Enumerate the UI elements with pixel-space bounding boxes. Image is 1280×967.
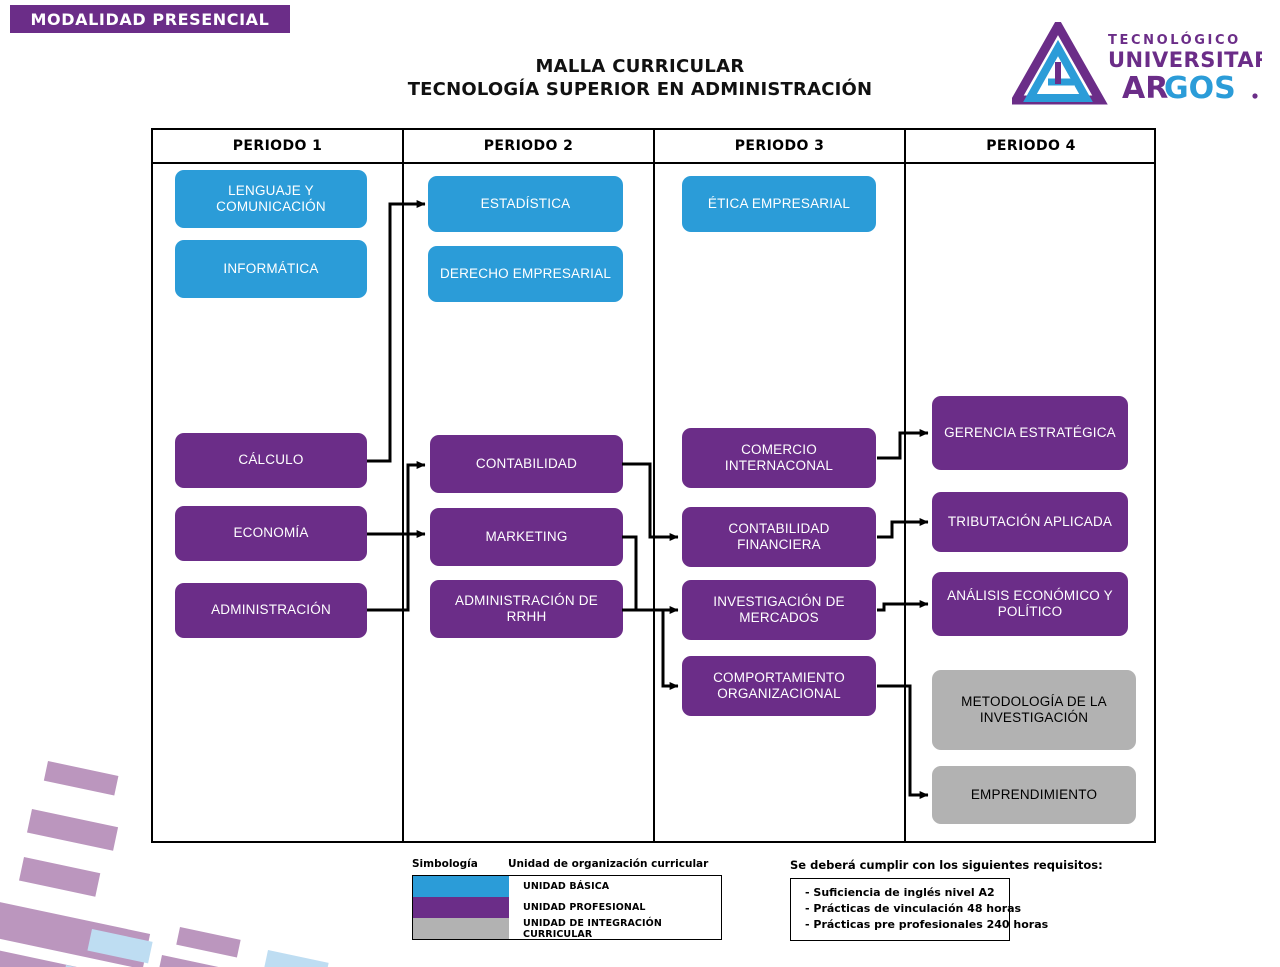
course-box-economia[interactable]: ECONOMÍA <box>175 506 367 561</box>
course-box-investigacion-de-mercados[interactable]: INVESTIGACIÓN DE MERCADOS <box>682 580 876 640</box>
legend-headers: Simbología Unidad de organización curric… <box>412 858 722 870</box>
course-box-emprendimiento[interactable]: EMPRENDIMIENTO <box>932 766 1136 824</box>
argos-logo: TECNOLÓGICO UNIVERSITARIO AR GOS <box>1012 22 1262 108</box>
course-box-metodologia-de-la-investigacion[interactable]: METODOLOGÍA DE LA INVESTIGACIÓN <box>932 670 1136 750</box>
course-box-administracion-de-rrhh[interactable]: ADMINISTRACIÓN DE RRHH <box>430 580 623 638</box>
course-box-lenguaje-y-comunicacion[interactable]: LENGUAJE Y COMUNICACIÓN <box>175 170 367 228</box>
legend-swatch-unidad-basica <box>413 876 509 897</box>
requirements-box: - Suficiencia de inglés nivel A2 - Práct… <box>790 878 1010 941</box>
modality-banner: MODALIDAD PRESENCIAL <box>10 5 290 33</box>
legend-swatch-column <box>413 876 509 939</box>
legend-swatch-unidad-integracion-curricular <box>413 918 509 939</box>
logo-line-argos-dark: AR <box>1122 71 1168 106</box>
column-header-periodo-2: PERIODO 2 <box>404 130 653 162</box>
course-box-analisis-economico-y-politico[interactable]: ANÁLISIS ECONÓMICO Y POLÍTICO <box>932 572 1128 636</box>
legend: Simbología Unidad de organización curric… <box>412 858 722 940</box>
requirements-block: Se deberá cumplir con los siguientes req… <box>790 858 1103 941</box>
requirements-title: Se deberá cumplir con los siguientes req… <box>790 858 1103 872</box>
course-box-tributacion-aplicada[interactable]: TRIBUTACIÓN APLICADA <box>932 492 1128 552</box>
legend-header-unidad: Unidad de organización curricular <box>508 858 708 870</box>
legend-label-unidad-basica: UNIDAD BÁSICA <box>509 876 721 897</box>
requirement-item-ingles: - Suficiencia de inglés nivel A2 <box>805 885 995 901</box>
course-box-calculo[interactable]: CÁLCULO <box>175 433 367 488</box>
logo-line-universitario: UNIVERSITARIO <box>1108 48 1262 72</box>
column-divider-3 <box>904 130 906 841</box>
legend-header-simbologia: Simbología <box>412 858 508 870</box>
course-box-contabilidad[interactable]: CONTABILIDAD <box>430 435 623 493</box>
column-divider-1 <box>402 130 404 841</box>
legend-table: UNIDAD BÁSICA UNIDAD PROFESIONAL UNIDAD … <box>412 875 722 940</box>
course-box-comercio-internacional[interactable]: COMERCIO INTERNACONAL <box>682 428 876 488</box>
course-box-gerencia-estrategica[interactable]: GERENCIA ESTRATÉGICA <box>932 396 1128 470</box>
logo-registered-dot <box>1252 93 1257 98</box>
legend-label-unidad-integracion: UNIDAD DE INTEGRACIÓN CURRICULAR <box>509 918 721 939</box>
course-box-marketing[interactable]: MARKETING <box>430 508 623 566</box>
column-header-periodo-1: PERIODO 1 <box>153 130 402 162</box>
course-box-etica-empresarial[interactable]: ÉTICA EMPRESARIAL <box>682 176 876 232</box>
legend-label-unidad-profesional: UNIDAD PROFESIONAL <box>509 897 721 918</box>
requirement-item-preprofesionales: - Prácticas pre profesionales 240 horas <box>805 917 995 933</box>
course-box-administracion[interactable]: ADMINISTRACIÓN <box>175 583 367 638</box>
column-header-periodo-3: PERIODO 3 <box>655 130 904 162</box>
logo-line-argos-light: GOS <box>1164 71 1236 106</box>
legend-label-column: UNIDAD BÁSICA UNIDAD PROFESIONAL UNIDAD … <box>509 876 721 939</box>
course-box-informatica[interactable]: INFORMÁTICA <box>175 240 367 298</box>
course-box-comportamiento-organizacional[interactable]: COMPORTAMIENTO ORGANIZACIONAL <box>682 656 876 716</box>
logo-line-tecnologico: TECNOLÓGICO <box>1108 32 1241 48</box>
course-box-contabilidad-financiera[interactable]: CONTABILIDAD FINANCIERA <box>682 507 876 567</box>
column-divider-2 <box>653 130 655 841</box>
column-header-periodo-4: PERIODO 4 <box>906 130 1156 162</box>
requirement-item-vinculacion: - Prácticas de vinculación 48 horas <box>805 901 995 917</box>
argos-triangle-a-mark <box>1016 26 1100 100</box>
course-box-derecho-empresarial[interactable]: DERECHO EMPRESARIAL <box>428 246 623 302</box>
course-box-estadistica[interactable]: ESTADÍSTICA <box>428 176 623 232</box>
legend-swatch-unidad-profesional <box>413 897 509 918</box>
